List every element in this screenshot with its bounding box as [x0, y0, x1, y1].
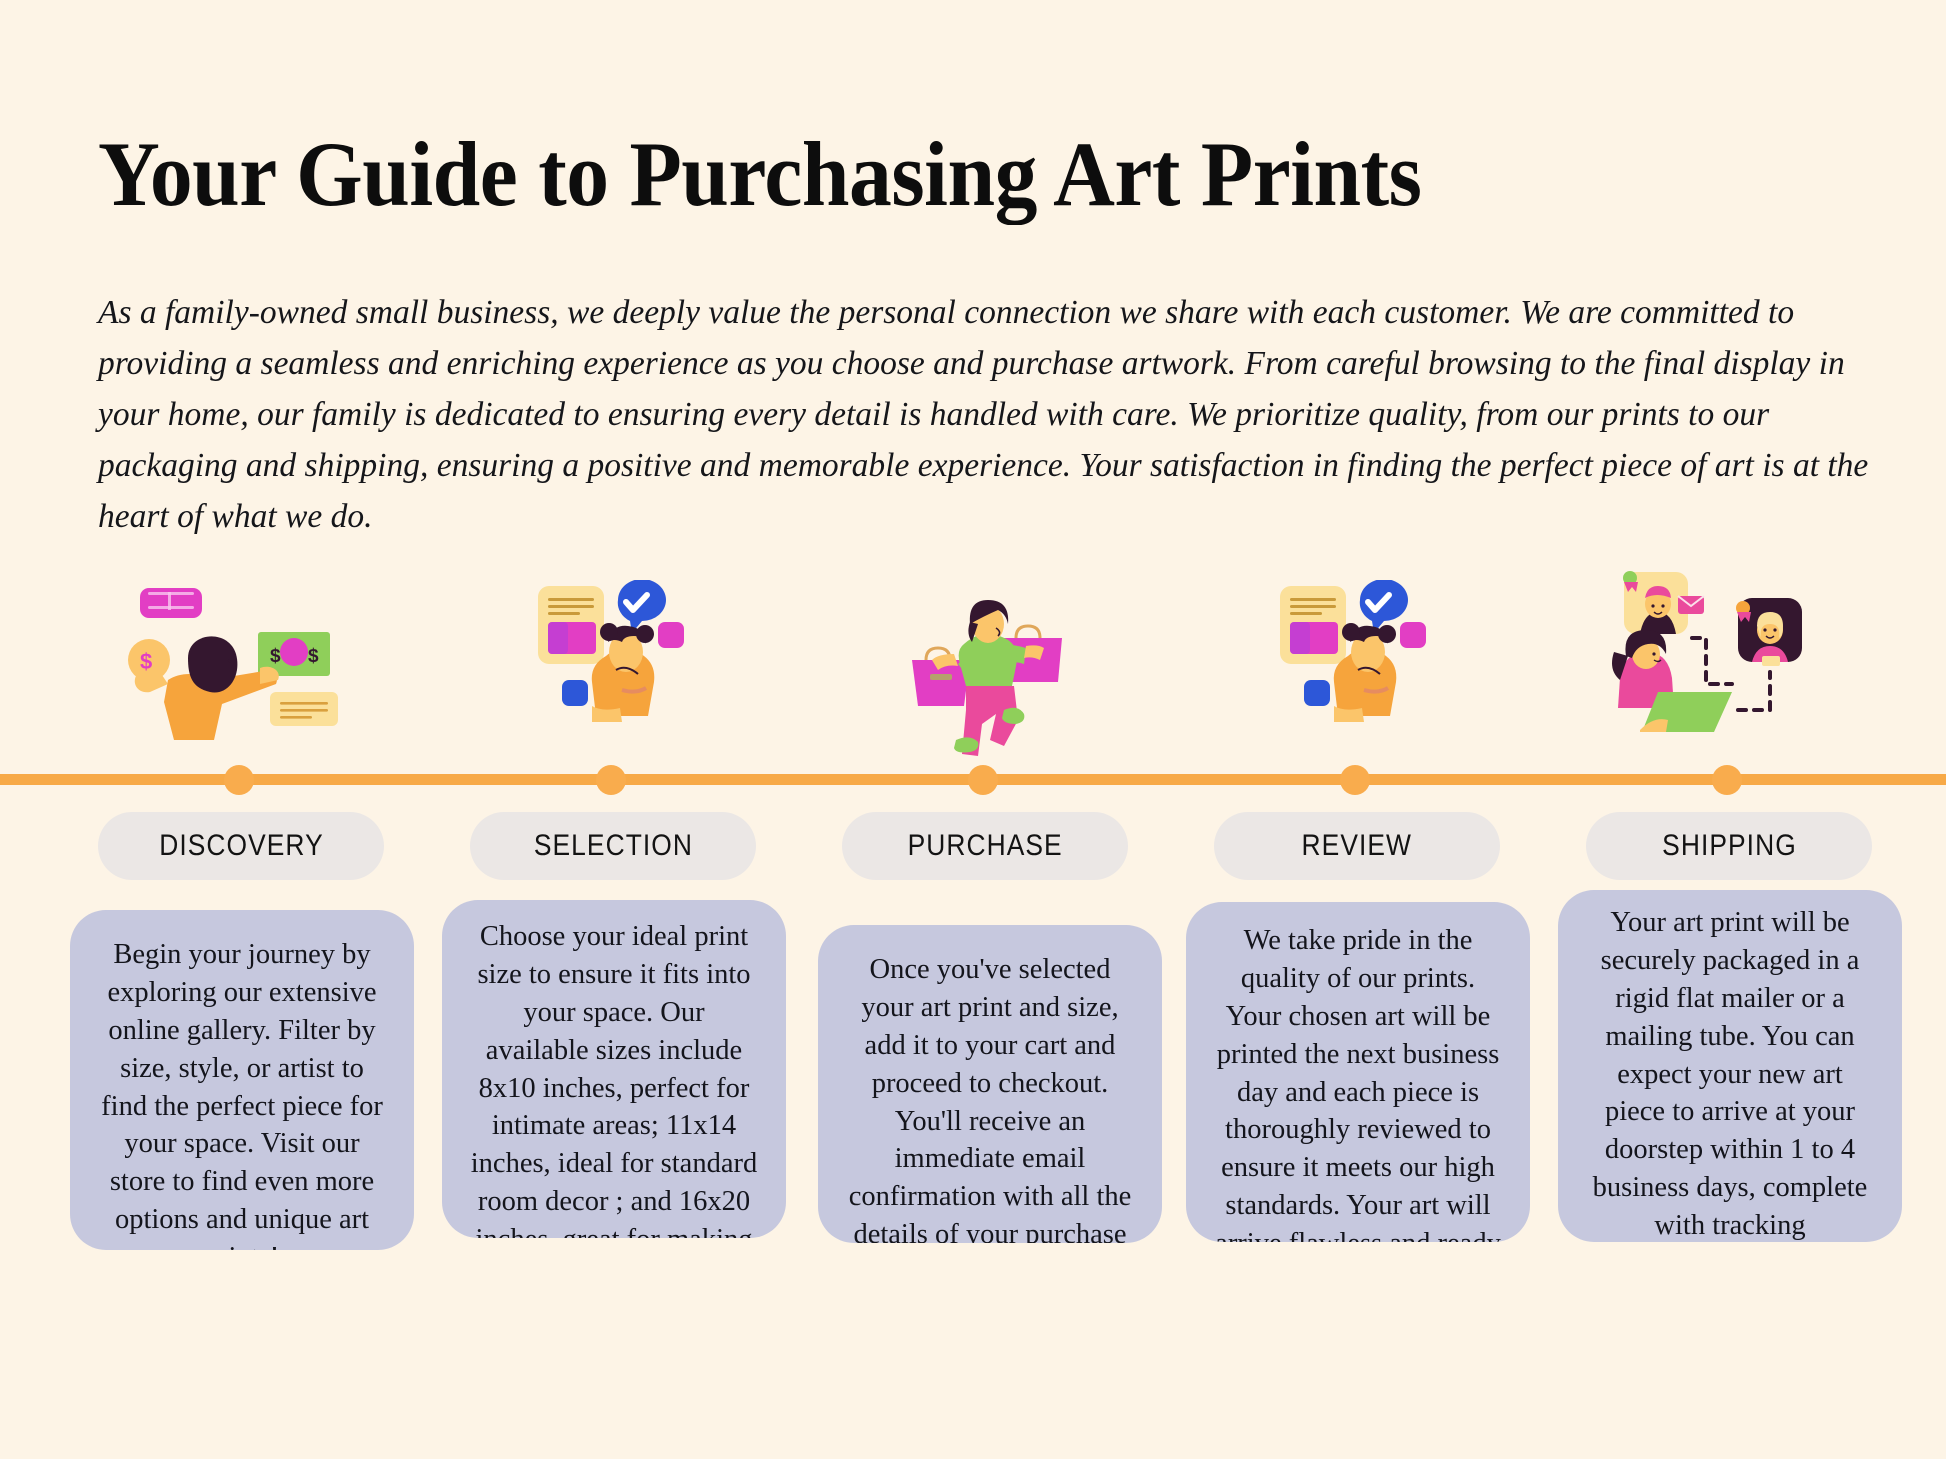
svg-text:$: $: [140, 649, 152, 674]
illustration-review: [1272, 580, 1618, 760]
timeline-dot-review: [1340, 765, 1370, 795]
stage-label-text: DISCOVERY: [159, 829, 324, 863]
stage-label-text: SELECTION: [533, 829, 692, 863]
timeline-dot-discovery: [224, 765, 254, 795]
illustration-selection: [530, 580, 876, 760]
stage-card-selection: Choose your ideal print size to ensure i…: [442, 900, 786, 1238]
stage-card-review: We take pride in the quality of our prin…: [1186, 902, 1530, 1242]
stage-label-shipping[interactable]: SHIPPING: [1586, 812, 1872, 880]
stage-label-discovery[interactable]: DISCOVERY: [98, 812, 384, 880]
stage-label-review[interactable]: REVIEW: [1214, 812, 1500, 880]
timeline-dot-selection: [596, 765, 626, 795]
illustration-discovery: $ $ $: [110, 580, 456, 760]
illustration-shipping: [1610, 560, 1946, 740]
stage-label-text: PURCHASE: [907, 829, 1062, 863]
stage-label-purchase[interactable]: PURCHASE: [842, 812, 1128, 880]
stage-label-text: REVIEW: [1302, 829, 1412, 863]
timeline-dot-purchase: [968, 765, 998, 795]
timeline-dot-shipping: [1712, 765, 1742, 795]
stage-label-selection[interactable]: SELECTION: [470, 812, 756, 880]
stage-card-discovery: Begin your journey by exploring our exte…: [70, 910, 414, 1250]
svg-text:$: $: [308, 646, 319, 667]
stage-label-text: SHIPPING: [1662, 829, 1797, 863]
page-intro-paragraph: As a family-owned small business, we dee…: [98, 288, 1888, 543]
svg-text:$: $: [270, 646, 281, 667]
illustration-purchase: [900, 580, 1246, 760]
stage-card-purchase: Once you've selected your art print and …: [818, 925, 1162, 1243]
page-title: Your Guide to Purchasing Art Prints: [98, 128, 1753, 220]
stage-card-shipping: Your art print will be securely packaged…: [1558, 890, 1902, 1242]
